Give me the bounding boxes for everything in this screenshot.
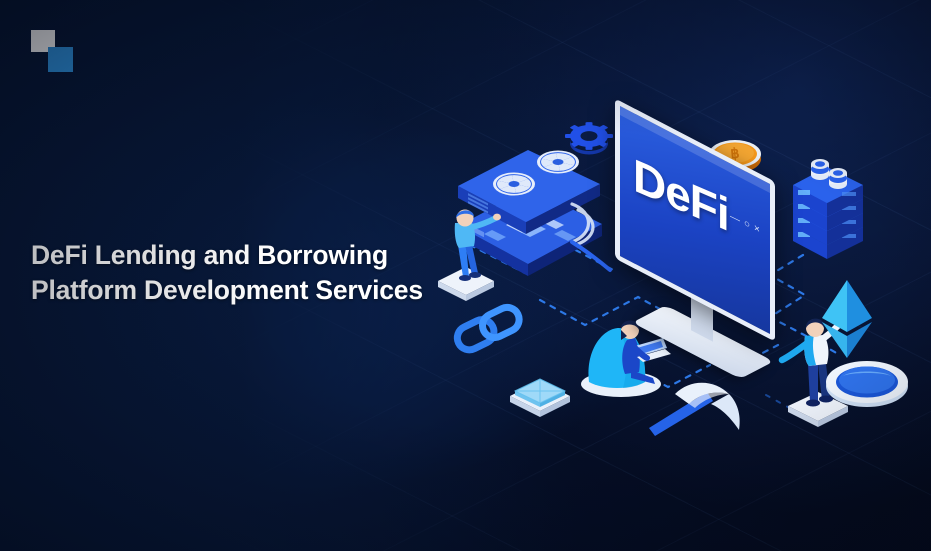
server-rack-icon: [785, 155, 875, 275]
person-standing-left: [432, 205, 502, 305]
ethereum-icon: [820, 280, 874, 360]
minimize-icon[interactable]: —: [730, 212, 740, 227]
page-title: DeFi Lending and Borrowing Platform Deve…: [31, 238, 451, 308]
headline-line-1: DeFi Lending and Borrowing: [31, 240, 388, 270]
headline-line-2: Platform Development Services: [31, 273, 451, 308]
liquidity-pool-icon: [825, 350, 910, 410]
window-controls[interactable]: — ○ ×: [730, 212, 760, 236]
logo-square-blue: [48, 47, 73, 72]
chain-link-icon: [450, 300, 530, 360]
close-icon[interactable]: ×: [754, 223, 760, 236]
block-cube-icon: [505, 360, 575, 420]
brand-logo[interactable]: [31, 30, 77, 74]
defi-monitor: DeFi — ○ ×: [605, 140, 790, 355]
defi-hero-banner: DeFi Lending and Borrowing Platform Deve…: [0, 0, 931, 551]
defi-isometric-illustration: ฿: [410, 95, 931, 495]
maximize-icon[interactable]: ○: [744, 219, 750, 232]
pickaxe-icon: [645, 370, 745, 440]
